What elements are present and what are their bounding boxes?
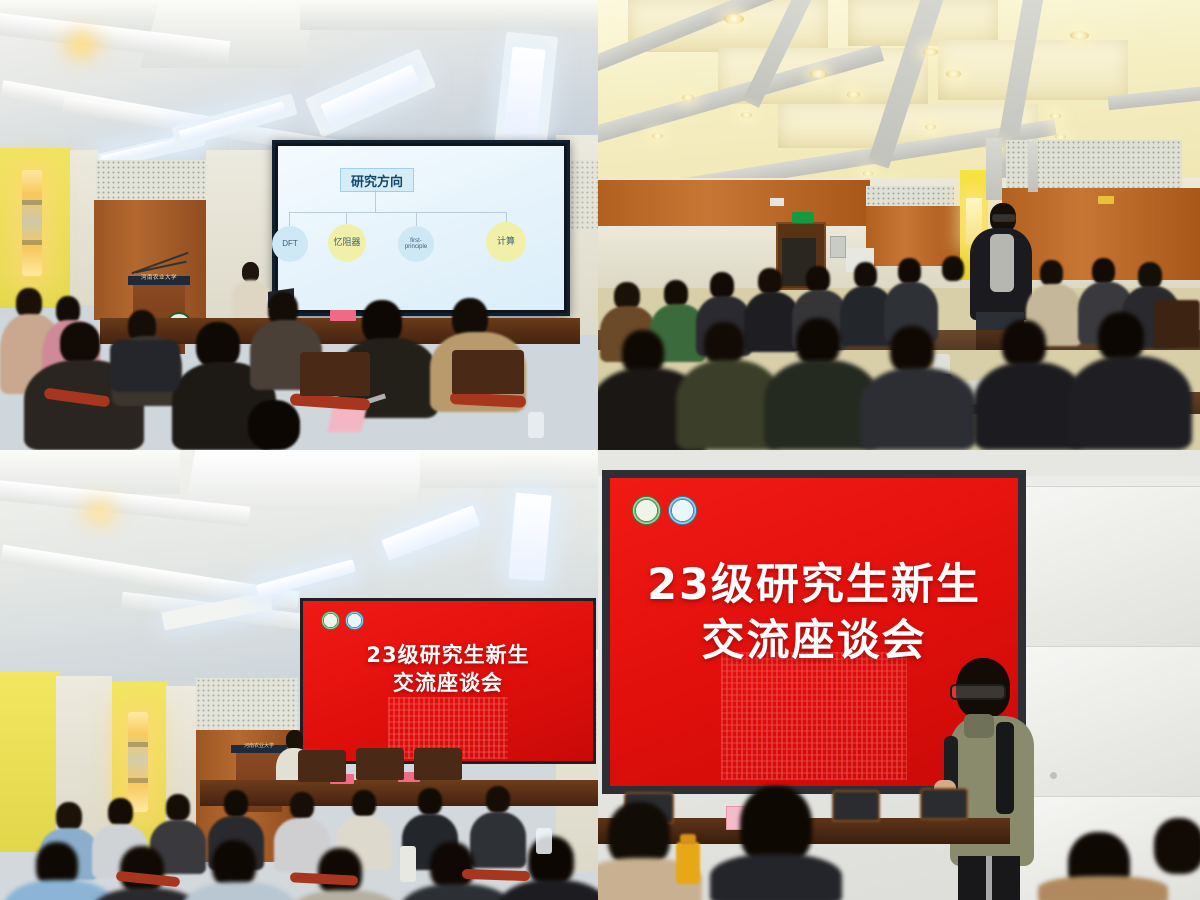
slide-title-line-2: 交流座谈会 xyxy=(610,606,1018,668)
chair-back xyxy=(298,750,346,782)
person-body xyxy=(1068,356,1192,450)
person-head xyxy=(120,846,164,894)
wall-outlet xyxy=(770,198,784,206)
water-bottle xyxy=(400,846,416,882)
water-cup xyxy=(528,412,544,438)
wall-sconce-band xyxy=(22,200,42,205)
chair-back xyxy=(920,788,968,820)
ceiling-downlight xyxy=(946,70,961,78)
ceiling-downlight xyxy=(847,91,860,98)
person-head xyxy=(212,840,256,888)
person-body xyxy=(710,854,842,900)
ceiling-downlight xyxy=(682,94,694,101)
podium-institution-label: 河南农业大学 xyxy=(136,273,182,281)
glasses-icon xyxy=(992,214,1016,222)
mindmap-node-computation: 计算 xyxy=(486,222,526,262)
mindmap-root-node: 研究方向 xyxy=(340,168,414,192)
wall-yellow-panel xyxy=(0,672,60,852)
mindmap-connector xyxy=(416,212,417,226)
slide-title-line-1: 23级研究生新生 xyxy=(303,639,593,669)
person-head xyxy=(796,318,840,366)
ceiling-soffit xyxy=(185,450,426,510)
podium-institution-label: 河南农业大学 xyxy=(238,742,280,749)
wall-control-box xyxy=(830,236,846,258)
cabinet-knob-icon xyxy=(1050,772,1057,779)
notebook xyxy=(327,408,366,432)
person-head xyxy=(1154,818,1200,874)
person-head xyxy=(806,266,830,292)
wall-sconce xyxy=(22,170,42,276)
person-head xyxy=(224,790,248,817)
exit-sign-icon xyxy=(792,212,814,223)
jacket-stripe xyxy=(996,722,1014,814)
person-head xyxy=(486,786,510,813)
photo-panel-bottom-right: 23级研究生新生 交流座谈会 xyxy=(598,450,1200,900)
university-logo-green-icon xyxy=(632,496,661,525)
thermos-lid xyxy=(680,834,696,844)
person-head xyxy=(56,802,82,831)
slide-building-graphic xyxy=(721,652,907,780)
photo-panel-top-left: 研究方向 DFT 忆阻器 first-principle 计算 河南农业大学 xyxy=(0,0,598,450)
water-cup xyxy=(536,828,552,854)
wall-column xyxy=(1028,142,1038,192)
title-slide: 23级研究生新生 交流座谈会 xyxy=(303,601,593,761)
slide-surface: 研究方向 DFT 忆阻器 first-principle 计算 xyxy=(278,146,564,310)
backpack xyxy=(110,340,180,392)
person-head xyxy=(898,258,921,284)
standing-student-collar xyxy=(964,714,994,738)
person-head xyxy=(664,280,688,307)
mindmap-connector xyxy=(289,212,290,226)
slide-title-line-2: 交流座谈会 xyxy=(303,667,593,697)
wall-cabinet-panel xyxy=(1016,646,1200,798)
person-head xyxy=(108,798,133,826)
person-head xyxy=(318,848,362,896)
university-logo-blue-icon xyxy=(345,611,364,630)
standing-student-shirt xyxy=(990,234,1014,292)
ceiling-downlight xyxy=(925,124,936,130)
mindmap-connector xyxy=(375,190,376,212)
ceiling-downlight xyxy=(923,48,938,56)
person-head xyxy=(1040,260,1063,286)
speaker-head xyxy=(286,730,303,750)
ceiling-downlight xyxy=(1050,113,1061,119)
projection-screen: 研究方向 DFT 忆阻器 first-principle 计算 xyxy=(272,140,570,316)
wood-wall-panel xyxy=(598,180,870,228)
led-screen-frame: 23级研究生新生 交流座谈会 xyxy=(300,598,596,764)
wall-sconce xyxy=(128,712,148,812)
person-head xyxy=(290,792,314,819)
person-head xyxy=(1002,320,1046,368)
wall-sconce-band xyxy=(128,742,148,747)
photo-panel-top-right xyxy=(598,0,1200,450)
person-head xyxy=(1092,258,1115,284)
person-head xyxy=(418,788,442,815)
ceiling-downlight xyxy=(88,506,110,518)
wall-notice-sign xyxy=(1098,196,1114,204)
person-head xyxy=(242,262,259,282)
slide-title-line-1: 23级研究生新生 xyxy=(610,550,1018,612)
person-head xyxy=(1138,262,1162,289)
ceiling-downlight xyxy=(863,171,873,176)
person-body xyxy=(860,368,976,450)
panel-light xyxy=(508,493,551,582)
person-body xyxy=(400,884,514,900)
ceiling-downlight xyxy=(1070,31,1089,40)
ceiling-soffit xyxy=(300,0,598,30)
university-logo-green-icon xyxy=(321,611,340,630)
person-head xyxy=(710,272,734,299)
chair-back xyxy=(1154,300,1200,348)
chair-back xyxy=(832,790,880,822)
glasses-icon xyxy=(950,684,1006,700)
person-body xyxy=(498,880,598,900)
person-head xyxy=(890,326,934,374)
wall-sconce-band xyxy=(128,778,148,783)
person-body xyxy=(232,280,270,318)
photo-panel-bottom-left: 23级研究生新生 交流座谈会 河南农业大学 xyxy=(0,450,598,900)
person-head xyxy=(352,790,376,817)
person-head xyxy=(1098,312,1144,362)
wall-column xyxy=(986,138,1002,200)
ceiling-downlight xyxy=(652,133,663,139)
wall-sconce-band xyxy=(22,240,42,245)
mindmap-node-first-principle: first-principle xyxy=(398,226,434,262)
front-desk xyxy=(200,780,598,806)
mindmap-node-dft: DFT xyxy=(272,226,308,262)
mindmap-connector xyxy=(289,212,507,213)
person-body xyxy=(288,890,402,900)
name-placard xyxy=(330,310,356,321)
person-body xyxy=(182,882,296,900)
chair-back xyxy=(414,748,462,780)
ceiling-downlight xyxy=(724,14,744,24)
ceiling-downlight xyxy=(70,38,94,52)
wall-cabinet-panel xyxy=(1016,486,1200,648)
person-head xyxy=(430,842,474,890)
chair-back xyxy=(300,352,370,396)
person-head xyxy=(248,400,300,450)
person-head xyxy=(60,322,100,364)
photo-collage: 研究方向 DFT 忆阻器 first-principle 计算 河南农业大学 xyxy=(0,0,1200,900)
chair-back xyxy=(452,350,524,394)
ceiling-downlight xyxy=(741,112,752,118)
university-logo-blue-icon xyxy=(668,496,697,525)
chair-armrest xyxy=(290,872,358,886)
thermos xyxy=(676,842,700,884)
person-head xyxy=(166,794,190,821)
ceiling-downlight xyxy=(810,70,827,78)
chair-back xyxy=(356,748,404,780)
person-body xyxy=(1038,876,1168,900)
mindmap-node-memristor: 忆阻器 xyxy=(328,224,366,262)
trouser-stripe xyxy=(986,856,992,900)
person-head xyxy=(942,256,964,281)
ceiling-soffit xyxy=(420,450,598,488)
person-head xyxy=(854,262,877,288)
person-body xyxy=(470,812,526,868)
person-head xyxy=(758,268,782,294)
